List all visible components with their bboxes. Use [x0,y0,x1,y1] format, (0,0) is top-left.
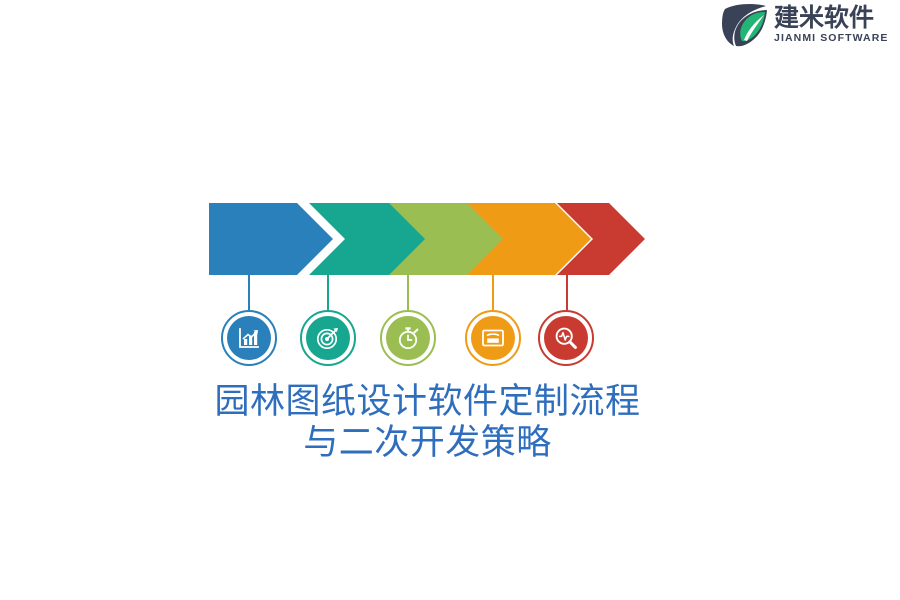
bar-chart-growth-icon [237,326,261,350]
badge-disc-4 [471,316,515,360]
badge-disc-3 [386,316,430,360]
page-title-line-2: 与二次开发策略 [150,423,705,464]
connector-stem-1 [248,275,250,312]
connector-stem-4 [492,275,494,312]
step-badge-5[interactable] [538,310,594,366]
step-badge-2[interactable] [300,310,356,366]
presentation-board-icon [481,326,505,350]
brand-name-en: JIANMI SOFTWARE [774,32,889,45]
jianmi-leaf-logo-icon [722,3,768,47]
stopwatch-icon [396,326,420,350]
page-title-line-1: 园林图纸设计软件定制流程 [150,382,705,423]
page-title: 园林图纸设计软件定制流程 与二次开发策略 [150,382,705,464]
connector-stem-2 [327,275,329,312]
target-dartboard-icon [316,326,340,350]
connector-stem-5 [566,275,568,312]
chevron-segment-1 [209,203,333,275]
badge-disc-2 [306,316,350,360]
step-badge-1[interactable] [221,310,277,366]
magnifier-analytics-icon [554,326,578,350]
brand-logo: 建米软件 JIANMI SOFTWARE [722,0,900,50]
brand-wordmark: 建米软件 JIANMI SOFTWARE [774,5,889,45]
brand-name-cn: 建米软件 [774,6,889,32]
step-badge-4[interactable] [465,310,521,366]
process-chevron-banner [209,203,645,275]
badge-disc-5 [544,316,588,360]
connector-stem-3 [407,275,409,312]
step-badge-3[interactable] [380,310,436,366]
badge-disc-1 [227,316,271,360]
